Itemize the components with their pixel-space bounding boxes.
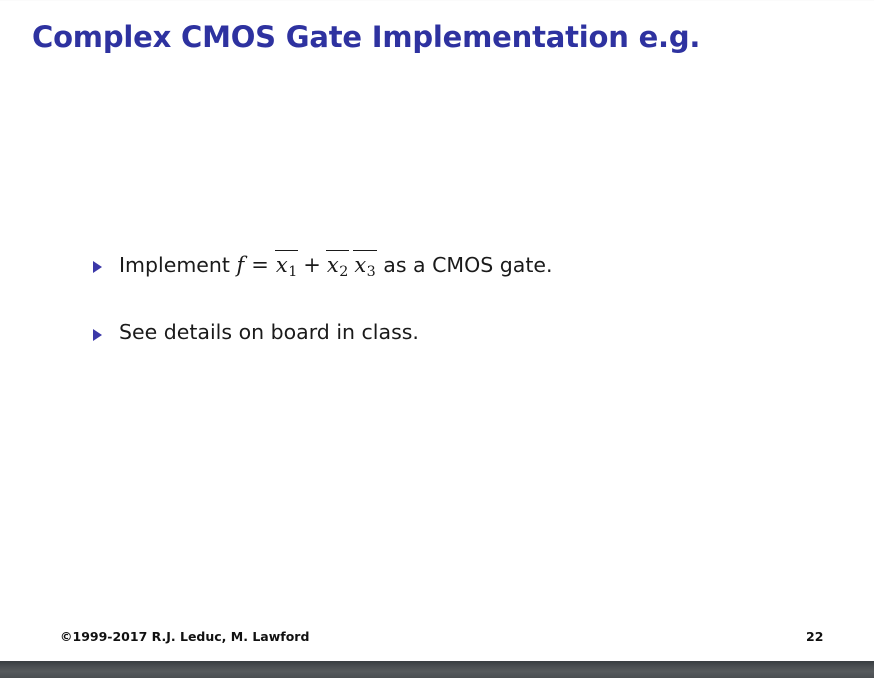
- math-term-x3: x3: [353, 252, 376, 282]
- top-hairline: [0, 0, 874, 1]
- math-term-x3-base: x: [354, 253, 366, 277]
- page-title: Complex CMOS Gate Implementation e.g.: [32, 20, 700, 54]
- triangle-right-icon: [92, 329, 104, 341]
- math-term-x1: x1: [275, 252, 298, 282]
- bullet-1-text-before: Implement: [119, 253, 236, 277]
- math-lhs: f: [236, 253, 245, 277]
- math-term-x2-base: x: [327, 253, 339, 277]
- list-item: See details on board in class.: [92, 320, 792, 346]
- footer-page-number: 22: [806, 629, 823, 644]
- slide-body: Implement f=x1+x2x3 as a CMOS gate. See …: [92, 252, 792, 383]
- triangle-right-icon: [92, 261, 104, 273]
- bullet-1-text-after: as a CMOS gate.: [377, 253, 553, 277]
- math-term-x1-base: x: [276, 253, 288, 277]
- math-term-x2-sub: 2: [339, 264, 349, 280]
- slide: Complex CMOS Gate Implementation e.g. Im…: [0, 0, 874, 678]
- math-operator-plus: +: [298, 253, 326, 277]
- math-term-x1-sub: 1: [288, 264, 298, 280]
- bullet-2-text: See details on board in class.: [119, 320, 792, 346]
- math-expression: f=x1+x2x3: [236, 252, 376, 282]
- math-relation: =: [245, 253, 275, 277]
- list-item-content: Implement f=x1+x2x3 as a CMOS gate.: [119, 252, 792, 282]
- list-item: Implement f=x1+x2x3 as a CMOS gate.: [92, 252, 792, 282]
- bottom-bar: [0, 661, 874, 678]
- math-term-x2: x2: [326, 252, 349, 282]
- footer-copyright: ©1999-2017 R.J. Leduc, M. Lawford: [60, 629, 309, 644]
- math-term-x3-sub: 3: [366, 264, 376, 280]
